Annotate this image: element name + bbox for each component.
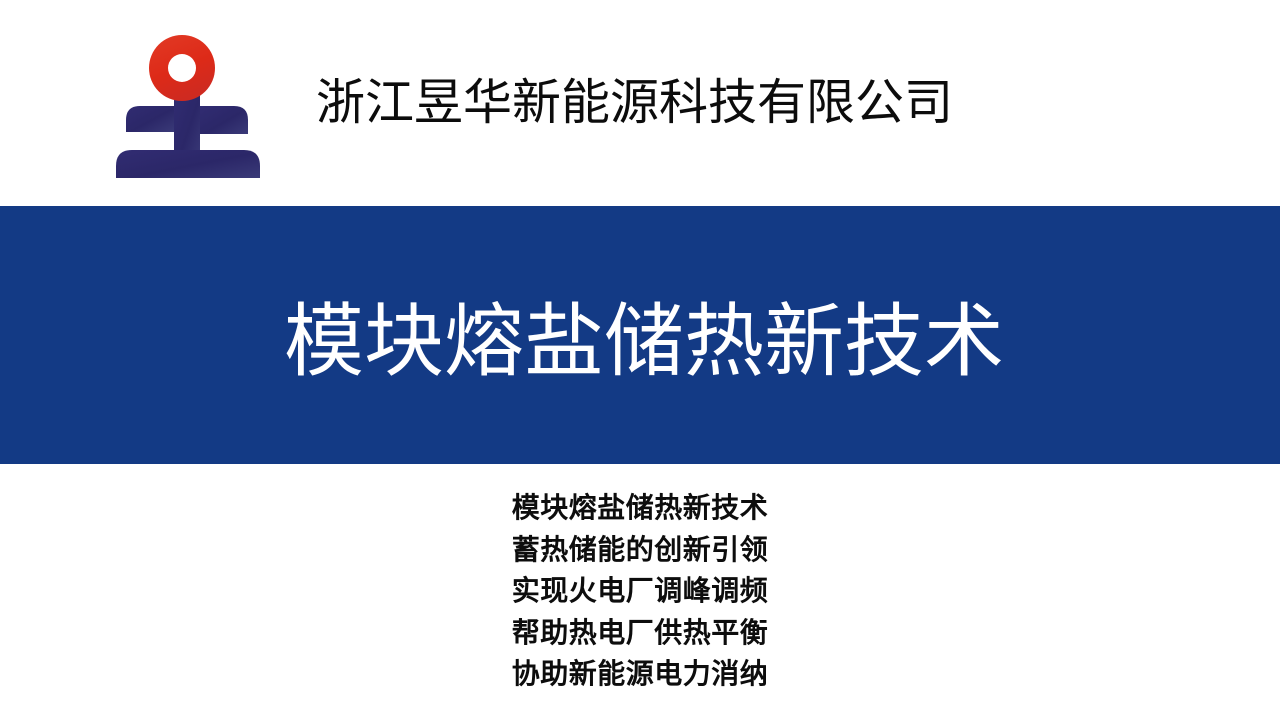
tagline-item: 实现火电厂调峰调频 xyxy=(0,571,1280,613)
tagline-item: 协助新能源电力消纳 xyxy=(0,654,1280,696)
title-banner: 模块熔盐储热新技术 xyxy=(0,206,1280,464)
tagline-list: 模块熔盐储热新技术 蓄热储能的创新引领 实现火电厂调峰调频 帮助热电厂供热平衡 … xyxy=(0,488,1280,696)
slide-header: 浙江昱华新能源科技有限公司 xyxy=(0,0,1280,206)
tagline-item: 模块熔盐储热新技术 xyxy=(0,488,1280,530)
logo-base-shape xyxy=(116,90,260,178)
presentation-slide: 浙江昱华新能源科技有限公司 模块熔盐储热新技术 模块熔盐储热新技术 蓄热储能的创… xyxy=(0,0,1280,720)
logo-ring-shape xyxy=(149,35,215,101)
slide-title: 模块熔盐储热新技术 xyxy=(0,206,1280,464)
tagline-item: 蓄热储能的创新引领 xyxy=(0,530,1280,572)
tagline-item: 帮助热电厂供热平衡 xyxy=(0,613,1280,655)
company-name: 浙江昱华新能源科技有限公司 xyxy=(316,72,1016,134)
company-logo xyxy=(112,28,262,178)
